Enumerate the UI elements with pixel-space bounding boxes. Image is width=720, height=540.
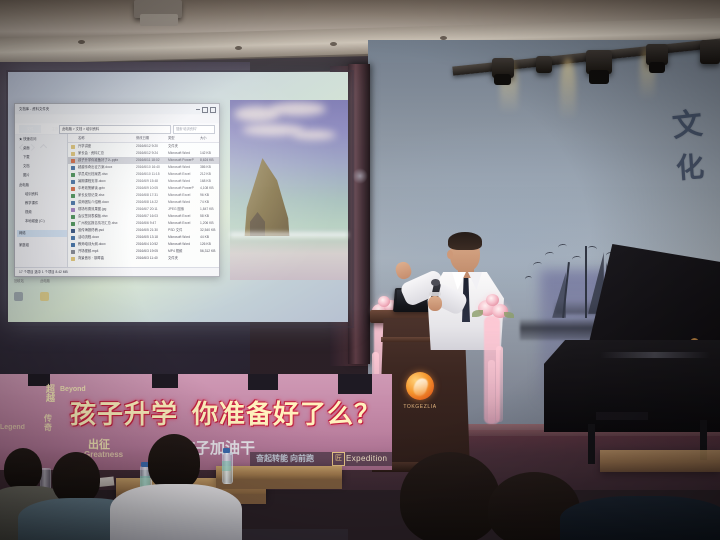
- cell-date: 2016/6/3 11:40: [136, 255, 166, 262]
- speaker-right-hand: [428, 296, 442, 311]
- sailboat-mast: [585, 246, 587, 318]
- ceiling-projector-lens-housing: [140, 14, 178, 26]
- cell-type: MP4 视频: [168, 248, 198, 255]
- table-row[interactable]: 讲师团队介绍稿.docx 2016/6/8 14:22 Microsoft Wo…: [68, 199, 219, 206]
- table-row[interactable]: 中考政策解读.pptx 2016/6/9 10:05 Microsoft Pow…: [68, 185, 219, 192]
- cell-name: 宣传海报终稿.psd: [78, 227, 134, 234]
- nav-item-documents[interactable]: 文档: [23, 163, 30, 170]
- cell-name: 活动流程.docx: [78, 234, 134, 241]
- cell-name: 暑期课程安排.docx: [78, 178, 134, 185]
- banner-brand-en: Expedition: [346, 454, 387, 463]
- pillar-light-reflection: [352, 168, 368, 184]
- nav-item-desktop[interactable]: 桌面: [23, 145, 30, 152]
- wallpaper-wet-sand: [230, 236, 348, 280]
- cell-size: 142 KB: [200, 150, 218, 157]
- nav-item-this-pc[interactable]: 此电脑: [19, 182, 29, 189]
- nav-item-quick-access[interactable]: ★ 快速访问: [19, 136, 36, 143]
- flower: [486, 294, 499, 306]
- audience-shoulders: [560, 496, 720, 540]
- ribbon-tail: [488, 360, 495, 424]
- flower: [378, 296, 390, 307]
- nav-item-network[interactable]: 网络: [17, 230, 67, 237]
- table-row[interactable]: 家长反馈记录.xlsx 2016/6/8 17:31 Microsoft Exc…: [68, 192, 219, 199]
- banner-headline-left: 孩子升学: [70, 402, 178, 428]
- cell-size: 58 KB: [200, 213, 218, 220]
- cell-date: 2016/6/8 17:31: [136, 192, 166, 199]
- table-row[interactable]: 广州校区报名情况汇总.xlsx 2016/6/6 9:47 Microsoft …: [68, 220, 219, 227]
- cell-name: 家长会 · 资料汇总: [78, 150, 134, 157]
- search-placeholder: 搜索“培训资料”: [176, 126, 197, 133]
- audience-head: [148, 434, 200, 490]
- cell-type: 文件夹: [168, 255, 198, 262]
- cell-date: 2016/6/6 9:47: [136, 220, 166, 227]
- cell-name: 讲师团队介绍稿.docx: [78, 199, 134, 206]
- cell-date: 2016/6/10 16:40: [136, 164, 166, 171]
- cell-type: Microsoft Word: [168, 150, 198, 157]
- cell-type: Microsoft Excel: [168, 213, 198, 220]
- cell-size: 386 KB: [200, 164, 218, 171]
- cell-size: 32,540 KB: [200, 227, 218, 234]
- cell-date: 2016/6/8 14:22: [136, 199, 166, 206]
- cell-size: 1,206 KB: [200, 220, 218, 227]
- cell-date: 2016/6/4 10:52: [136, 241, 166, 248]
- column-header-name[interactable]: 名称: [78, 134, 85, 142]
- wallpaper-surf-line: [230, 232, 348, 238]
- piano-leg: [588, 424, 595, 464]
- file-list-header[interactable]: 名称 修改日期 类型 大小: [68, 134, 219, 143]
- cell-name: 会议签到表模板.xlsx: [78, 213, 134, 220]
- desktop-icon-label: 回收站: [8, 278, 30, 283]
- search-input[interactable]: 搜索“培训资料”: [173, 125, 215, 134]
- cell-date: 2016/6/7 20:11: [136, 206, 166, 213]
- cell-date: 2016/6/11 18:02: [136, 157, 166, 164]
- stage-light-head: [649, 62, 665, 73]
- table-row[interactable]: 活动流程.docx 2016/6/5 13:18 Microsoft Word …: [68, 234, 219, 241]
- banner-notch: [152, 374, 178, 388]
- cell-name: 现场布置效果图.jpg: [78, 206, 134, 213]
- nav-item-videos[interactable]: 视频: [25, 209, 32, 216]
- cell-date: 2016/6/5 13:18: [136, 234, 166, 241]
- bird-icon: [533, 261, 543, 268]
- cell-name: 家长反馈记录.xlsx: [78, 192, 134, 199]
- cell-name: 背景音乐 · 钢琴曲: [78, 255, 134, 262]
- table-row[interactable]: 宣传海报终稿.psd 2016/6/5 21:30 PSD 文件 32,540 …: [68, 227, 219, 234]
- desktop-icon-network[interactable]: [14, 292, 23, 301]
- desktop-icon-new-folder[interactable]: [40, 292, 49, 301]
- cell-type: JPEG 图像: [168, 206, 198, 213]
- file-list[interactable]: 名称 修改日期 类型 大小 升学讲座 2016/6/12 9:20 文件夹 家长…: [68, 134, 219, 276]
- audience-table-edge: [216, 480, 342, 489]
- cell-size: 126 KB: [200, 241, 218, 248]
- nav-item-training[interactable]: 培训资料: [25, 191, 38, 198]
- cell-name: 广州校区报名情况汇总.xlsx: [78, 220, 134, 227]
- cell-size: 56,312 KB: [200, 248, 218, 255]
- cell-type: 文件夹: [168, 143, 198, 150]
- ceiling-light-dot: [78, 40, 85, 44]
- explorer-window-title: 文档库 - 资料文件夹: [19, 104, 49, 114]
- bird-icon: [572, 255, 582, 262]
- cell-type: Microsoft Word: [168, 241, 198, 248]
- cell-type: Microsoft Word: [168, 178, 198, 185]
- bottle-cap: [223, 448, 230, 453]
- cell-type: Microsoft Word: [168, 164, 198, 171]
- piano-highlight: [600, 352, 710, 358]
- cell-date: 2016/6/9 15:48: [136, 178, 166, 185]
- banner-sub-line: 奋起转能 向前跑: [256, 453, 314, 464]
- stage-light-head: [494, 74, 511, 85]
- calligraphy-hua: 化: [675, 145, 706, 187]
- maximize-icon[interactable]: [202, 107, 208, 113]
- banner-notch: [248, 374, 278, 390]
- column-header-size[interactable]: 大小: [200, 134, 207, 142]
- cell-date: 2016/6/7 16:03: [136, 213, 166, 220]
- table-row[interactable]: 背景音乐 · 钢琴曲 2016/6/3 11:40 文件夹: [68, 255, 219, 262]
- cell-name: 开场视频.mp4: [78, 248, 134, 255]
- bird-icon: [588, 246, 598, 253]
- minimize-icon[interactable]: [196, 109, 200, 110]
- stage-light: [700, 40, 720, 64]
- table-row[interactable]: 现场布置效果图.jpg 2016/6/7 20:11 JPEG 图像 1,847…: [68, 206, 219, 213]
- audience-shoulders: [110, 484, 242, 540]
- stage-light-head: [589, 70, 609, 84]
- banner-tag-legend-en: Legend: [0, 424, 25, 431]
- leaf: [504, 312, 514, 318]
- cell-size: 4,108 KB: [200, 185, 218, 192]
- close-icon[interactable]: [210, 107, 216, 113]
- ceiling-light-dot: [235, 46, 242, 50]
- audience-head: [52, 452, 100, 504]
- cell-size: 96 KB: [200, 192, 218, 199]
- audience-head-foreground: [400, 452, 500, 540]
- cell-type: Microsoft Word: [168, 234, 198, 241]
- status-text: 17 个项目 选中 1 个项目 8.42 MB: [19, 268, 68, 276]
- cell-date: 2016/6/10 11:15: [136, 171, 166, 178]
- ceiling-light-dot: [330, 42, 337, 46]
- table-row[interactable]: 会议签到表模板.xlsx 2016/6/7 16:03 Microsoft Ex…: [68, 213, 219, 220]
- banner-tag-legend-cn: 传奇: [44, 414, 54, 432]
- cell-size: 168 KB: [200, 178, 218, 185]
- banner-headline-right: 你准备好了么？: [192, 402, 381, 428]
- light-beam: [560, 58, 576, 120]
- bird-icon: [558, 243, 568, 250]
- navigation-pane[interactable]: ★ 快速访问 桌面 下载 文档 图片 此电脑 培训资料 教学课件 视频 本地磁盘…: [15, 134, 68, 276]
- cell-type: PSD 文件: [168, 227, 198, 234]
- banner-tag-beyond-cn: 超越: [46, 385, 58, 403]
- audience-table: [600, 450, 720, 472]
- table-row[interactable]: 家长会 · 资料汇总 2016/6/12 9:24 Microsoft Word…: [68, 150, 219, 157]
- nav-item-pictures[interactable]: 图片: [23, 172, 30, 179]
- cell-type: Microsoft Excel: [168, 220, 198, 227]
- table-row[interactable]: 开场视频.mp4 2016/6/3 19:05 MP4 视频 56,312 KB: [68, 248, 219, 255]
- cell-size: 74 KB: [200, 199, 218, 206]
- nav-item-homegroup[interactable]: 家庭组: [19, 242, 29, 249]
- banner-notch: [338, 374, 372, 394]
- nav-item-local-disk[interactable]: 本地磁盘 (C:): [25, 218, 45, 225]
- cell-size: 1,847 KB: [200, 206, 218, 213]
- cell-name: 学员成长档案表.xlsx: [78, 171, 134, 178]
- cell-date: 2016/6/12 9:20: [136, 143, 166, 150]
- banner-tag-beyond-en: Beyond: [60, 386, 86, 393]
- column-header-date[interactable]: 修改日期: [136, 134, 149, 142]
- bottle-label: [222, 461, 231, 471]
- table-row[interactable]: 升学讲座 2016/6/12 9:20 文件夹: [68, 143, 219, 150]
- cell-type: Microsoft Excel: [168, 171, 198, 178]
- cell-type: Microsoft Word: [168, 199, 198, 206]
- banner-brand-mark: 匠: [332, 452, 345, 466]
- photo-scene: 文 化 回收站 此电脑: [0, 0, 720, 540]
- table-row[interactable]: 学员成长档案表.xlsx 2016/6/10 11:15 Microsoft E…: [68, 171, 219, 178]
- cell-size: 44 KB: [200, 234, 218, 241]
- cell-type: Microsoft PowerP: [168, 157, 198, 164]
- table-row-selected[interactable]: 孩子升学你准备好了么.pptx 2016/6/11 18:02 Microsof…: [68, 157, 219, 164]
- wristwatch: [429, 292, 441, 296]
- cell-type: Microsoft PowerP: [168, 185, 198, 192]
- cell-name: 中考政策解读.pptx: [78, 185, 134, 192]
- column-header-type[interactable]: 类型: [168, 134, 175, 142]
- cell-type: Microsoft Excel: [168, 192, 198, 199]
- audience-head: [4, 448, 42, 490]
- address-input[interactable]: 此电脑 > 文档 > 培训资料: [59, 125, 171, 134]
- table-row[interactable]: 超越传奇出征方案.docx 2016/6/10 16:40 Microsoft …: [68, 164, 219, 171]
- podium-logo-text: TOKGEZLIA: [396, 404, 444, 410]
- stage-light: [536, 56, 552, 73]
- file-explorer-window[interactable]: 文档库 - 资料文件夹 文件 主页 共享 查看 此电脑 > 文档 > 培训资料 …: [14, 103, 220, 277]
- piano-bench: [596, 412, 648, 420]
- nav-item-courseware[interactable]: 教学课件: [25, 200, 38, 207]
- cell-date: 2016/6/12 9:24: [136, 150, 166, 157]
- microphone-head: [431, 279, 440, 286]
- cell-size: 212 KB: [200, 171, 218, 178]
- cell-date: 2016/6/3 19:05: [136, 248, 166, 255]
- bird-icon: [545, 251, 555, 258]
- bird-icon: [525, 276, 533, 283]
- cell-size: 8,624 KB: [200, 157, 218, 164]
- cell-date: 2016/6/9 10:05: [136, 185, 166, 192]
- speaker-hair: [448, 232, 482, 250]
- speaker-ear: [447, 250, 453, 259]
- cell-name: 孩子升学你准备好了么.pptx: [78, 157, 134, 164]
- address-value: 此电脑 > 文档 > 培训资料: [62, 126, 99, 133]
- cell-name: 教师培训大纲.docx: [78, 241, 134, 248]
- table-row[interactable]: 暑期课程安排.docx 2016/6/9 15:48 Microsoft Wor…: [68, 178, 219, 185]
- explorer-status-bar: 17 个项目 选中 1 个项目 8.42 MB: [15, 267, 219, 276]
- table-row[interactable]: 教师培训大纲.docx 2016/6/4 10:52 Microsoft Wor…: [68, 241, 219, 248]
- cell-name: 升学讲座: [78, 143, 134, 150]
- ribbon-tail: [496, 346, 503, 422]
- cell-name: 超越传奇出征方案.docx: [78, 164, 134, 171]
- nav-item-downloads[interactable]: 下载: [23, 154, 30, 161]
- calligraphy-wen: 文: [670, 99, 704, 146]
- cell-date: 2016/6/5 21:30: [136, 227, 166, 234]
- desktop-icon-label: 此电脑: [34, 278, 56, 283]
